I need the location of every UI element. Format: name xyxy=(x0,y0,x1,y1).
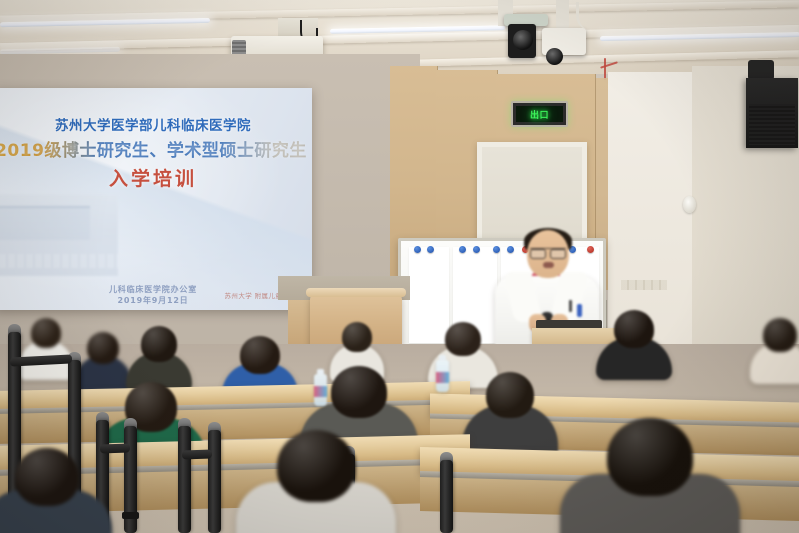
presenter-pen xyxy=(569,300,572,312)
seat-post-5 xyxy=(178,426,191,533)
attendee-foreground-center xyxy=(236,430,396,533)
wall-speaker xyxy=(746,78,798,148)
wall-outlet-plate xyxy=(621,280,667,290)
water-bottle-1-label xyxy=(436,372,449,383)
red-wire xyxy=(604,58,606,80)
water-bottle-2-label xyxy=(314,386,327,397)
exit-sign: 出口 xyxy=(511,101,568,127)
exit-sign-label: 出口 xyxy=(516,106,563,122)
magnet-1 xyxy=(414,246,421,253)
water-bottle-2 xyxy=(314,374,327,406)
magnet-2 xyxy=(427,246,434,253)
speaker-bracket xyxy=(748,60,774,80)
camera-right-lens xyxy=(546,48,563,65)
attendee-white-shirt-hair-sheen xyxy=(31,318,61,348)
seat-post-8 xyxy=(440,460,453,533)
water-bottle-1 xyxy=(436,360,449,392)
seat-post-6 xyxy=(208,430,221,533)
lecture-hall-photo: 出口 苏州大学医学部儿科临床医学院 2019级博士研究生、学术型硕士研究生 入学… xyxy=(0,0,799,533)
attendee-black-hair-mid-hair-sheen xyxy=(486,372,534,418)
attendee-pale-right xyxy=(750,318,799,384)
attendee-foreground-center-hair-sheen xyxy=(277,430,355,502)
slide-line-3: 入学培训 xyxy=(0,164,312,191)
attendee-white-shirt xyxy=(18,318,74,380)
attendee-foreground-left xyxy=(0,448,112,533)
attendee-navy-back-hair-sheen xyxy=(87,332,119,364)
presenter-mouth xyxy=(543,262,554,268)
seat-foot-3 xyxy=(122,512,139,519)
attendee-gray-tee-center-hair-sheen xyxy=(331,366,387,418)
magnet-3 xyxy=(459,246,466,253)
glasses-icon xyxy=(530,248,566,256)
attendee-blue-tee-hair-sheen xyxy=(240,336,280,374)
attendee-foreground-right-hair-sheen xyxy=(607,418,693,496)
attendee-foreground-left-hair-sheen xyxy=(15,448,79,506)
slide-line-2: 2019级博士研究生、学术型硕士研究生 xyxy=(0,136,312,161)
attendee-striped-shirt-hair-sheen xyxy=(445,322,481,356)
slide-line-1: 苏州大学医学部儿科临床医学院 xyxy=(0,114,312,134)
projection-screen: 苏州大学医学部儿科临床医学院 2019级博士研究生、学术型硕士研究生 入学培训 … xyxy=(0,88,312,310)
slide-text-block: 苏州大学医学部儿科临床医学院 2019级博士研究生、学术型硕士研究生 入学培训 … xyxy=(0,88,312,310)
attendee-dark-tee-right-hair-sheen xyxy=(614,310,654,348)
presenter-badge xyxy=(577,304,582,317)
magnet-4 xyxy=(473,246,480,253)
attendee-dark-tee-right xyxy=(596,310,672,380)
podium-top xyxy=(306,288,406,297)
camera-left-lens xyxy=(513,30,533,50)
attendee-foreground-right xyxy=(560,418,740,533)
seat-rail-3 xyxy=(182,449,212,459)
speaker-grill xyxy=(749,104,795,145)
attendee-gray-hair-hair-sheen xyxy=(342,322,372,352)
camera-stem-right xyxy=(556,0,569,30)
wall-sensor-icon xyxy=(683,196,696,213)
attendee-dark-olive-hair-sheen xyxy=(141,326,177,362)
attendee-pale-right-hair-sheen xyxy=(763,318,797,352)
